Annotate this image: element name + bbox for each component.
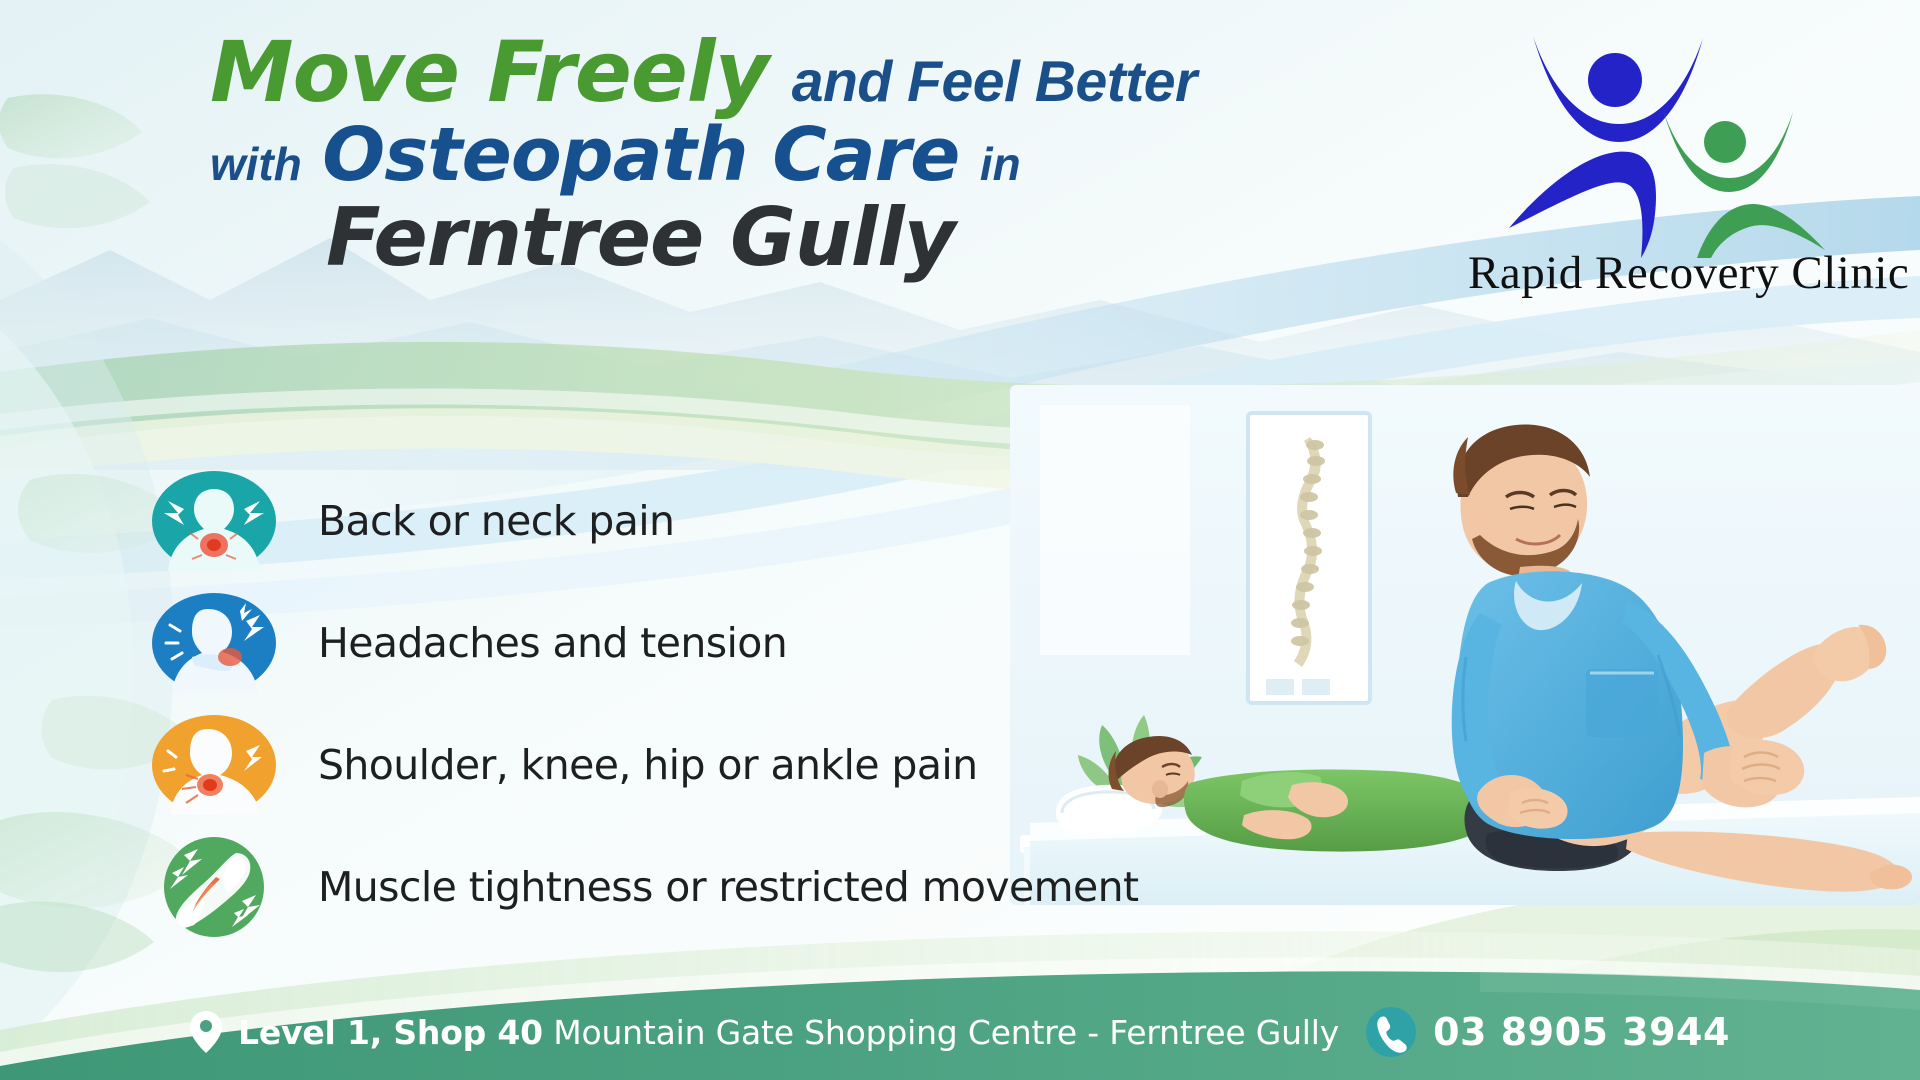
list-item: Back or neck pain [150,460,1139,582]
list-item-label: Back or neck pain [318,497,674,545]
osteopath-treating-patient-illustration [1010,385,1920,905]
symptom-list: Back or neck pain Headaches and tension [150,460,1139,948]
phone-handset-icon[interactable] [1365,1006,1417,1058]
address-bold-part: Level 1, Shop 40 [238,1013,543,1052]
spine-anatomy-poster [1248,413,1370,703]
headline-line-3: Ferntree Gully [210,198,1290,278]
back-neck-pain-icon [150,469,278,573]
headline-in: in [980,138,1021,190]
address-light-part: Mountain Gate Shopping Centre - Ferntree… [553,1013,1339,1052]
joint-pain-icon [150,713,278,817]
list-item-label: Shoulder, knee, hip or ankle pain [318,741,978,789]
list-item: Muscle tightness or restricted movement [150,826,1139,948]
list-item: Headaches and tension [150,582,1139,704]
footer-contact-info: Level 1, Shop 40 Mountain Gate Shopping … [0,1006,1920,1058]
headache-tension-icon [150,591,278,695]
headline-move-freely: Move Freely [210,23,768,121]
list-item-label: Headaches and tension [318,619,787,667]
phone-item[interactable]: 03 8905 3944 [1365,1006,1730,1058]
clinic-address: Level 1, Shop 40 Mountain Gate Shopping … [238,1013,1339,1052]
address-item: Level 1, Shop 40 Mountain Gate Shopping … [190,1011,1339,1053]
list-item-label: Muscle tightness or restricted movement [318,863,1139,911]
headline-osteopath-care: Osteopath Care [322,112,959,198]
list-item: Shoulder, knee, hip or ankle pain [150,704,1139,826]
clinic-logo: Rapid Recovery Clinic [1468,18,1868,300]
two-figures-logo-icon [1503,18,1833,258]
headline-line-2: with Osteopath Care in [210,118,1290,192]
clinic-phone[interactable]: 03 8905 3944 [1433,1010,1730,1054]
logo-wordmark: Rapid Recovery Clinic [1468,246,1868,300]
location-pin-icon [190,1011,222,1053]
muscle-tightness-icon [150,835,278,939]
headline-line-1: Move Freely and Feel Better [210,30,1290,114]
promotional-banner: Move Freely and Feel Better with Osteopa… [0,0,1920,1080]
headline-ferntree-gully: Ferntree Gully [326,191,955,284]
headline: Move Freely and Feel Better with Osteopa… [210,30,1290,278]
headline-and-feel-better: and Feel Better [792,50,1197,114]
headline-with: with [210,138,302,190]
